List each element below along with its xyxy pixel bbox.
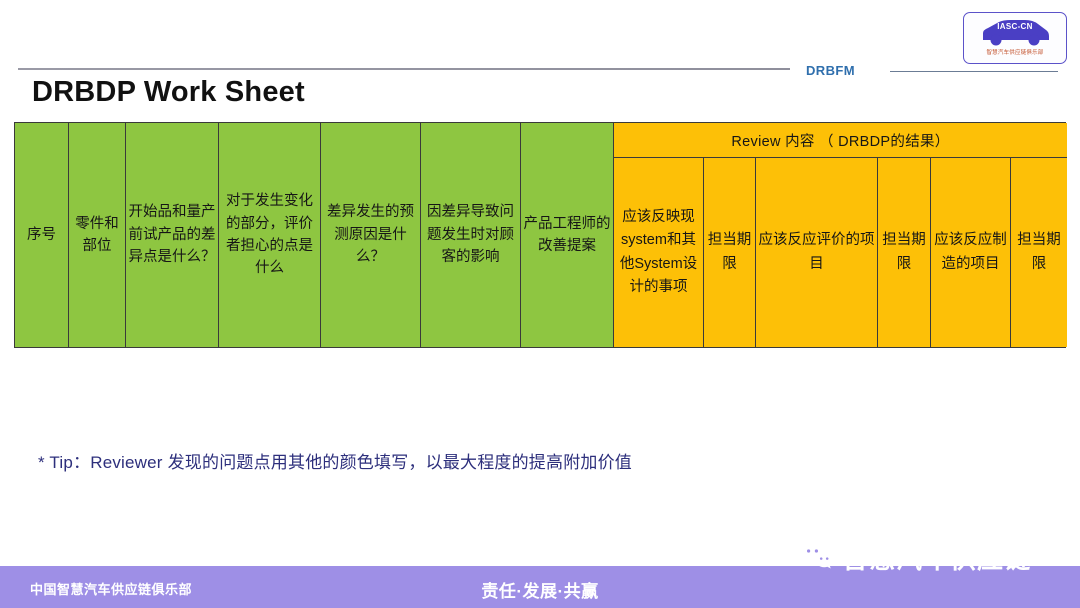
brand-logo: IASC-CN 智慧汽车供应链俱乐部 <box>963 12 1067 64</box>
logo-subtitle-text: 智慧汽车供应链俱乐部 <box>968 47 1062 55</box>
review-header-cell: 应该反映现system和其他System设计的事项 <box>614 158 704 347</box>
review-header-label: 应该反应评价的项目 <box>758 229 875 275</box>
review-header-label: 应该反应制造的项目 <box>933 229 1008 275</box>
worksheet-header-label: 开始品和量产前试产品的差异点是什么？ <box>128 201 216 268</box>
footer-watermark: 智慧汽车供应链 <box>800 536 1080 578</box>
watermark-text: 智慧汽车供应链 <box>842 539 1031 576</box>
worksheet-header-cell: 产品工程师的改善提案 <box>521 123 614 347</box>
worksheet-header-label: 因差异导致问题发生时对顾客的影响 <box>423 201 518 268</box>
worksheet-header-label: 对于发生变化的部分，评价者担心的点是什么 <box>221 190 318 280</box>
review-header-label: 担当期限 <box>1013 229 1065 275</box>
review-header-cell: 担当期限 <box>1011 158 1067 347</box>
worksheet-header-cell: 开始品和量产前试产品的差异点是什么？ <box>126 123 219 347</box>
tip-note: * Tip：Reviewer 发现的问题点用其他的颜色填写，以最大程度的提高附加… <box>38 448 632 473</box>
drbdp-worksheet-table: 序号零件和部位开始品和量产前试产品的差异点是什么？对于发生变化的部分，评价者担心… <box>14 122 1066 348</box>
logo-brand-text: IASC-CN <box>964 22 1066 31</box>
review-header-cell: 担当期限 <box>704 158 756 347</box>
review-column-group: Review 内容 （ DRBDP的结果） 应该反映现system和其他Syst… <box>614 123 1067 347</box>
worksheet-header-cell: 因差异导致问题发生时对顾客的影响 <box>421 123 521 347</box>
slide-header: DRBFM DRBDP Work Sheet IASC-CN 智慧汽车供应链俱乐… <box>0 0 1080 118</box>
review-group-header: Review 内容 （ DRBDP的结果） <box>614 123 1067 158</box>
worksheet-header-label: 差异发生的预测原因是什么？ <box>323 201 418 268</box>
drbfm-badge-label: DRBFM <box>806 63 855 78</box>
review-header-cell: 担当期限 <box>878 158 931 347</box>
worksheet-header-cell: 序号 <box>15 123 69 347</box>
review-header-cell: 应该反应评价的项目 <box>756 158 878 347</box>
review-subcolumns-group: 应该反映现system和其他System设计的事项担当期限应该反应评价的项目担当… <box>614 158 1067 347</box>
review-header-label: 应该反映现system和其他System设计的事项 <box>616 206 701 299</box>
worksheet-header-cell: 零件和部位 <box>69 123 126 347</box>
footer-slogan: 责任·发展·共赢 <box>0 577 1080 602</box>
worksheet-header-label: 产品工程师的改善提案 <box>523 213 611 258</box>
page-title: DRBDP Work Sheet <box>32 76 305 109</box>
worksheet-header-cell: 差异发生的预测原因是什么？ <box>321 123 421 347</box>
wechat-icon <box>800 542 834 572</box>
drbfm-divider-line <box>890 71 1058 72</box>
review-header-label: 担当期限 <box>706 229 753 275</box>
review-header-cell: 应该反应制造的项目 <box>931 158 1011 347</box>
worksheet-header-label: 零件和部位 <box>71 213 123 258</box>
worksheet-header-cell: 对于发生变化的部分，评价者担心的点是什么 <box>219 123 321 347</box>
worksheet-header-label: 序号 <box>27 224 56 246</box>
header-divider-line <box>18 68 790 70</box>
review-header-label: 担当期限 <box>880 229 928 275</box>
